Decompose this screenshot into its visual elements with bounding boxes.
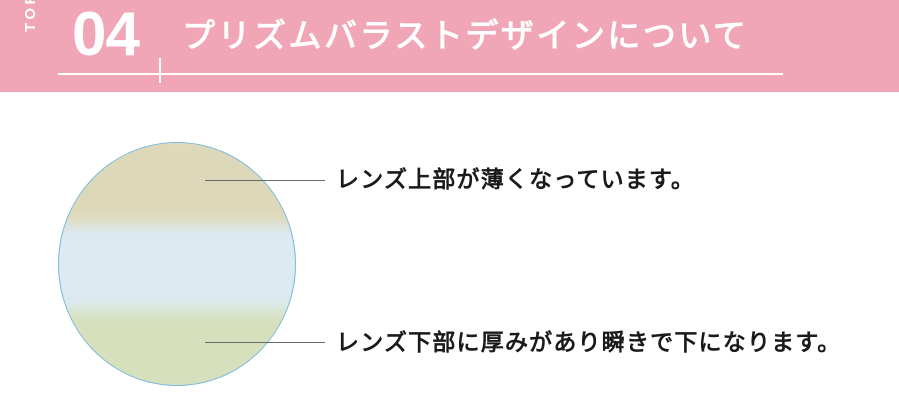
lens-disc (58, 142, 296, 386)
header-section-number: 04 (72, 2, 139, 68)
header-tick-mark (159, 58, 161, 83)
leader-line-top (205, 180, 325, 181)
callout-label-top: レンズ上部が薄くなっています。 (336, 164, 695, 194)
leader-line-bottom (205, 342, 325, 343)
header-underline-rule (58, 73, 783, 75)
page-title: プリズムバラストデザインについて (182, 13, 748, 59)
page-root: TORIC 04 プリズムバラストデザインについて レンズ上部が薄くなっています… (0, 0, 899, 409)
lens-bottom-band (58, 310, 296, 386)
lens-top-band (58, 142, 296, 225)
section-header: TORIC 04 プリズムバラストデザインについて (0, 0, 899, 92)
callout-label-bottom: レンズ下部に厚みがあり瞬きで下になります。 (336, 327, 841, 357)
lens-diagram (58, 142, 296, 386)
header-eyebrow-text: TORIC (22, 0, 39, 32)
